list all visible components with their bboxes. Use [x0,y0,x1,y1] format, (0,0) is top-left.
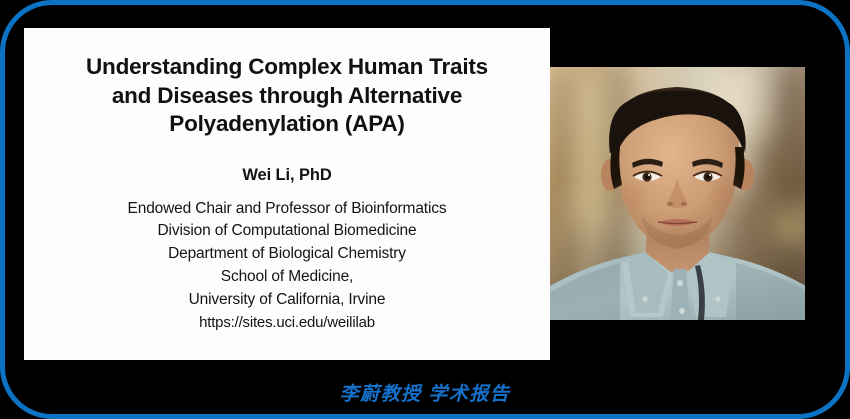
affiliation-line-4: School of Medicine, [36,266,538,289]
affiliation-line-3: Department of Biological Chemistry [36,243,538,266]
affiliation-line-5: University of California, Irvine [36,289,538,312]
title-line-1: Understanding Complex Human Traits [44,53,530,82]
title-line-3: Polyadenylation (APA) [44,110,530,139]
slide-panel: Understanding Complex Human Traits and D… [24,28,550,360]
talk-caption: 李蔚教授 学术报告 [5,379,845,406]
speaker-portrait-photo [550,67,805,320]
affiliation-line-1: Endowed Chair and Professor of Bioinform… [36,198,538,221]
lab-url[interactable]: https://sites.uci.edu/weililab [36,312,538,334]
portrait-illustration [550,67,805,320]
affiliation-line-2: Division of Computational Biomedicine [36,220,538,243]
page-title: Understanding Complex Human Traits and D… [44,53,530,139]
poster-frame: Understanding Complex Human Traits and D… [0,0,850,419]
affiliation-block: Endowed Chair and Professor of Bioinform… [36,198,538,334]
speaker-name: Wei Li, PhD [36,166,538,185]
title-line-2: and Diseases through Alternative [44,82,530,111]
